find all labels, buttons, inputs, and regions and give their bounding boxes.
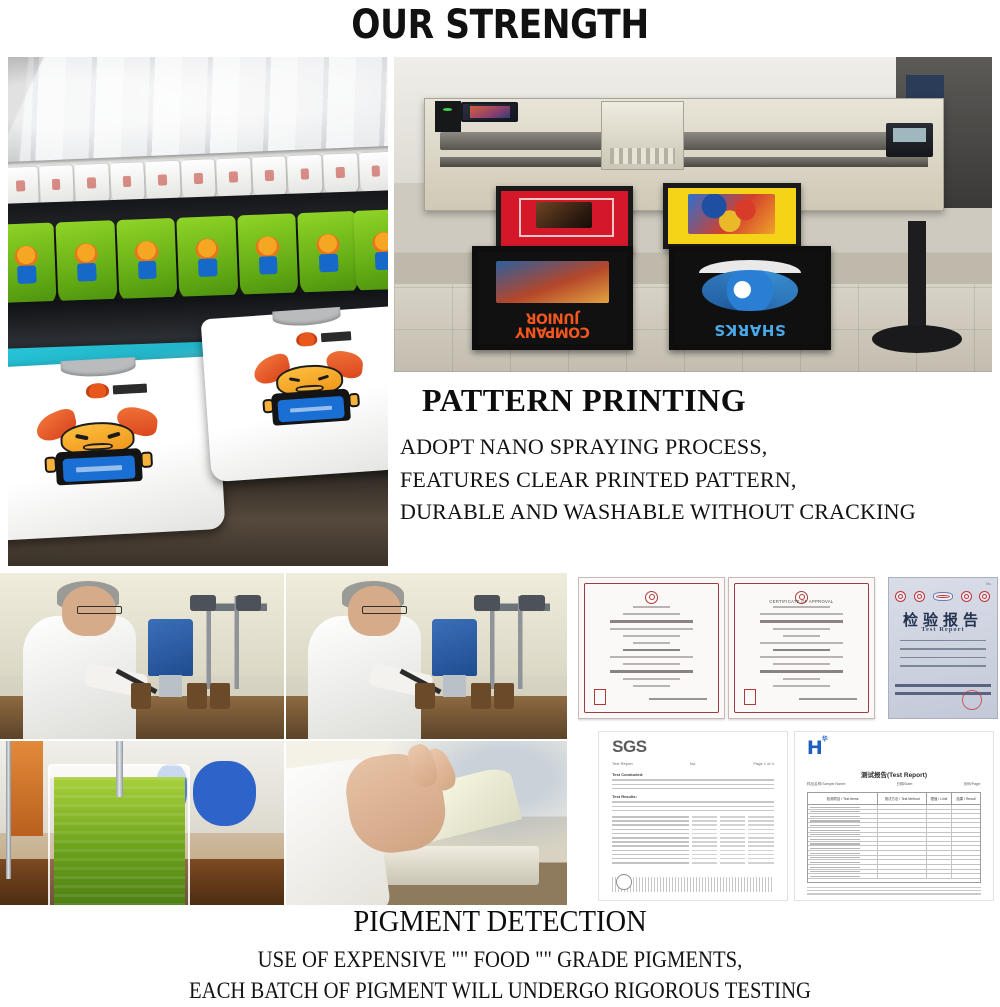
h-lab-logo: H华 — [807, 737, 827, 759]
printed-garment-sharks: SHARKS — [669, 246, 830, 350]
pattern-printing-text-block: PATTERN PRINTING ADOPT NANO SPRAYING PRO… — [400, 382, 998, 529]
report-doc-number: No. — [986, 582, 991, 586]
chest-logo — [85, 381, 147, 400]
photo-screen-printing-carousel — [8, 57, 388, 566]
certificate-stamp-icon — [744, 689, 756, 705]
pattern-printing-line-2: FEATURES CLEAR PRINTED PATTERN, — [400, 464, 998, 497]
certificate-document-left — [578, 577, 725, 719]
tshirt-collar — [61, 357, 137, 378]
sgs-section-results: Test Results: — [612, 794, 774, 814]
chest-logo — [295, 328, 351, 346]
chemist-glasses — [362, 606, 407, 614]
sgs-barcode — [612, 877, 774, 892]
pattern-printing-line-3: DURABLE AND WASHABLE WITHOUT CRACKING — [400, 496, 998, 529]
printer-gantry-rail — [440, 132, 927, 150]
sgs-logo: SGS — [612, 737, 646, 757]
h-report-meta: 样品名称/Sample Name: 日期/Date: 页码/Page: — [807, 782, 981, 787]
h-col-result: 结果 / Result — [952, 793, 980, 804]
pigment-detection-line-2: EACH BATCH OF PIGMENT WILL UNDERGO RIGOR… — [50, 976, 950, 1007]
printed-garment-yellow — [663, 183, 801, 249]
photo-technician-hand-sample — [286, 741, 567, 905]
pigment-detection-text-block: PIGMENT DETECTION USE OF EXPENSIVE "" FO… — [0, 903, 1000, 1007]
printer-lower-rail — [440, 157, 927, 167]
hand-scene — [286, 741, 567, 905]
photo-chemist-lab-left — [0, 573, 284, 739]
sharks-wordmark: SHARKS — [684, 320, 816, 340]
h-report-title: 测试报告(Test Report) — [795, 769, 993, 779]
stand-rod — [6, 741, 12, 879]
stirring-rod — [116, 741, 122, 797]
bull-body — [271, 388, 351, 425]
photo-green-pigment-beaker — [0, 741, 284, 905]
h-report-notes — [807, 887, 981, 897]
cnas-seal-icon — [933, 592, 953, 601]
sgs-test-report-document: SGS Test Report No. Page 1 of 4 Test Con… — [598, 731, 788, 901]
signature-line — [799, 698, 857, 700]
printed-tshirt-front-left — [8, 356, 225, 541]
h-col-test-items: 检测项目 / Test Items — [808, 793, 878, 804]
h-table-row — [808, 874, 980, 879]
sgs-section-test-conducted: Test Conducted: — [612, 772, 774, 792]
h-col-limit: 限值 / Limit — [927, 793, 952, 804]
cqc-seal-icon — [895, 591, 906, 602]
printed-tshirt-front-right — [200, 304, 388, 481]
print-head-carriage — [601, 101, 684, 170]
bull-body — [55, 448, 143, 486]
h-table-header-row: 检测项目 / Test Items 测试方法 / Test Method 限值 … — [808, 793, 980, 805]
red-official-stamp-icon — [962, 690, 982, 710]
certificate-body-lines — [746, 606, 856, 684]
chemist-glasses — [77, 606, 122, 614]
certificate-stamp-icon — [594, 689, 606, 705]
iso-seal-icon — [961, 591, 972, 602]
printer-power-box — [435, 101, 461, 132]
beaker-scene — [0, 741, 284, 905]
printer-control-panel — [886, 123, 933, 156]
h-test-report-document: H华 测试报告(Test Report) 样品名称/Sample Name: 日… — [794, 731, 994, 901]
blue-background-equipment — [193, 761, 255, 827]
h-meta-left: 样品名称/Sample Name: — [807, 782, 846, 787]
monitor-stand-base — [872, 325, 962, 353]
printed-garment-red — [496, 186, 634, 252]
h-meta-right: 页码/Page: — [964, 782, 982, 787]
pigment-detection-line-1: USE OF EXPENSIVE "" FOOD "" GRADE PIGMEN… — [50, 945, 950, 976]
page-title: OUR STRENGTH — [70, 2, 930, 48]
certificate-document-right: CERTIFICATE OF APPROVAL — [728, 577, 875, 719]
ccc-seal-icon — [914, 591, 925, 602]
cma-seal-icon — [979, 591, 990, 602]
pigment-detection-heading: PIGMENT DETECTION — [40, 903, 960, 939]
sgs-report-header: Test Report No. Page 1 of 4 — [612, 761, 774, 766]
h-meta-mid: 日期/Date: — [896, 782, 913, 787]
certificate-body-lines — [596, 606, 706, 684]
inspection-test-report-document: No. 检验报告 Test Report — [888, 577, 998, 719]
certificates-and-reports-area: CERTIFICATE OF APPROVAL No. — [578, 573, 998, 905]
certificate-seal-icon — [645, 591, 658, 604]
h-logo-subtext: 华 — [822, 737, 827, 744]
monitor-stand-pole — [908, 221, 926, 341]
h-col-test-method: 测试方法 / Test Method — [878, 793, 927, 804]
certification-seal-icons — [895, 588, 990, 605]
sgs-head-left: Test Report — [612, 761, 632, 766]
pattern-printing-heading: PATTERN PRINTING — [400, 382, 998, 419]
h-report-table: 检测项目 / Test Items 测试方法 / Test Method 限值 … — [807, 792, 981, 883]
junior-wordmark-line2: COMPANY — [487, 325, 619, 339]
sgs-head-mid: No. — [690, 761, 696, 766]
inspection-report-en-title: Test Report — [889, 626, 997, 633]
inspection-report-fields — [900, 640, 986, 682]
sgs-head-right: Page 1 of 4 — [753, 761, 773, 766]
pattern-printing-line-1: ADOPT NANO SPRAYING PROCESS, — [400, 431, 998, 464]
sgs-round-stamp-icon — [616, 874, 632, 890]
lab-scene — [286, 573, 567, 739]
printed-garment-junior-company: COMPANY JUNIOR — [472, 246, 633, 350]
certificate-right-title: CERTIFICATE OF APPROVAL — [729, 599, 874, 604]
photo-dtg-flatbed-printer: COMPANY JUNIOR SHARKS — [394, 57, 992, 372]
junior-wordmark-line1: JUNIOR — [487, 311, 619, 325]
photo-chemist-lab-right — [286, 573, 567, 739]
blue-lab-mixer — [148, 619, 193, 675]
bull-mascot-graphic — [42, 408, 154, 486]
junior-company-wordmark: COMPANY JUNIOR — [487, 311, 619, 339]
control-tablet — [461, 102, 518, 122]
sgs-results-table — [612, 816, 774, 880]
bull-mascot-graphic — [258, 351, 360, 426]
lab-scene — [0, 573, 284, 739]
blue-lab-mixer — [432, 619, 477, 675]
signature-line — [649, 698, 707, 700]
infographic-page: OUR STRENGTH — [0, 0, 1000, 1000]
